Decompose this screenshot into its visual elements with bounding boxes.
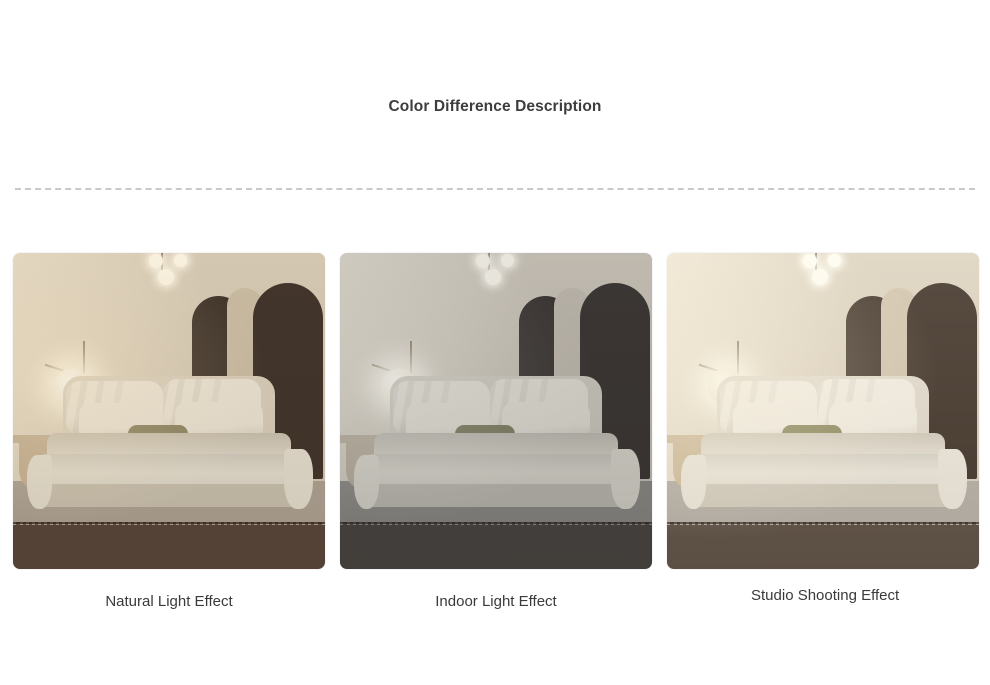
bedroom-scene-studio: [667, 253, 979, 569]
caption-studio-shooting: Studio Shooting Effect: [667, 585, 979, 635]
bedroom-scene-natural: [13, 253, 325, 569]
bed-base: [687, 484, 958, 508]
section-divider: [15, 188, 975, 190]
ceiling-bulb-icon: [828, 254, 841, 267]
caption-indoor-light: Indoor Light Effect: [340, 585, 652, 635]
bed-base: [360, 484, 631, 508]
floor-band: [13, 525, 325, 569]
caption-row: Natural Light Effect Indoor Light Effect…: [13, 585, 979, 635]
ceiling-bulb-icon: [174, 254, 187, 267]
color-difference-page: Color Difference Description: [0, 0, 990, 685]
bed-base: [33, 484, 304, 508]
ceiling-bulb-icon: [803, 254, 817, 268]
ceiling-bulb-icon: [476, 254, 490, 268]
bedroom-scene-indoor: [340, 253, 652, 569]
image-panel-indoor-light[interactable]: [340, 253, 652, 569]
image-comparison-row: [13, 253, 979, 569]
bed-arm-left: [27, 455, 52, 509]
image-panel-natural-light[interactable]: [13, 253, 325, 569]
bed-arm-right: [611, 449, 639, 509]
ceiling-bulb-icon: [501, 254, 514, 267]
bed-arm-left: [354, 455, 379, 509]
image-panel-studio-shooting[interactable]: [667, 253, 979, 569]
floor-seam-stitching: [16, 522, 322, 525]
floor-seam-stitching: [670, 522, 976, 525]
ceiling-bulb-icon: [149, 254, 163, 268]
floor-seam-stitching: [343, 522, 649, 525]
bed-arm-left: [681, 455, 706, 509]
floor-band: [667, 525, 979, 569]
bed-arm-right: [938, 449, 966, 509]
floor-band: [340, 525, 652, 569]
bed-arm-right: [284, 449, 312, 509]
caption-natural-light: Natural Light Effect: [13, 585, 325, 635]
page-title: Color Difference Description: [0, 98, 990, 116]
